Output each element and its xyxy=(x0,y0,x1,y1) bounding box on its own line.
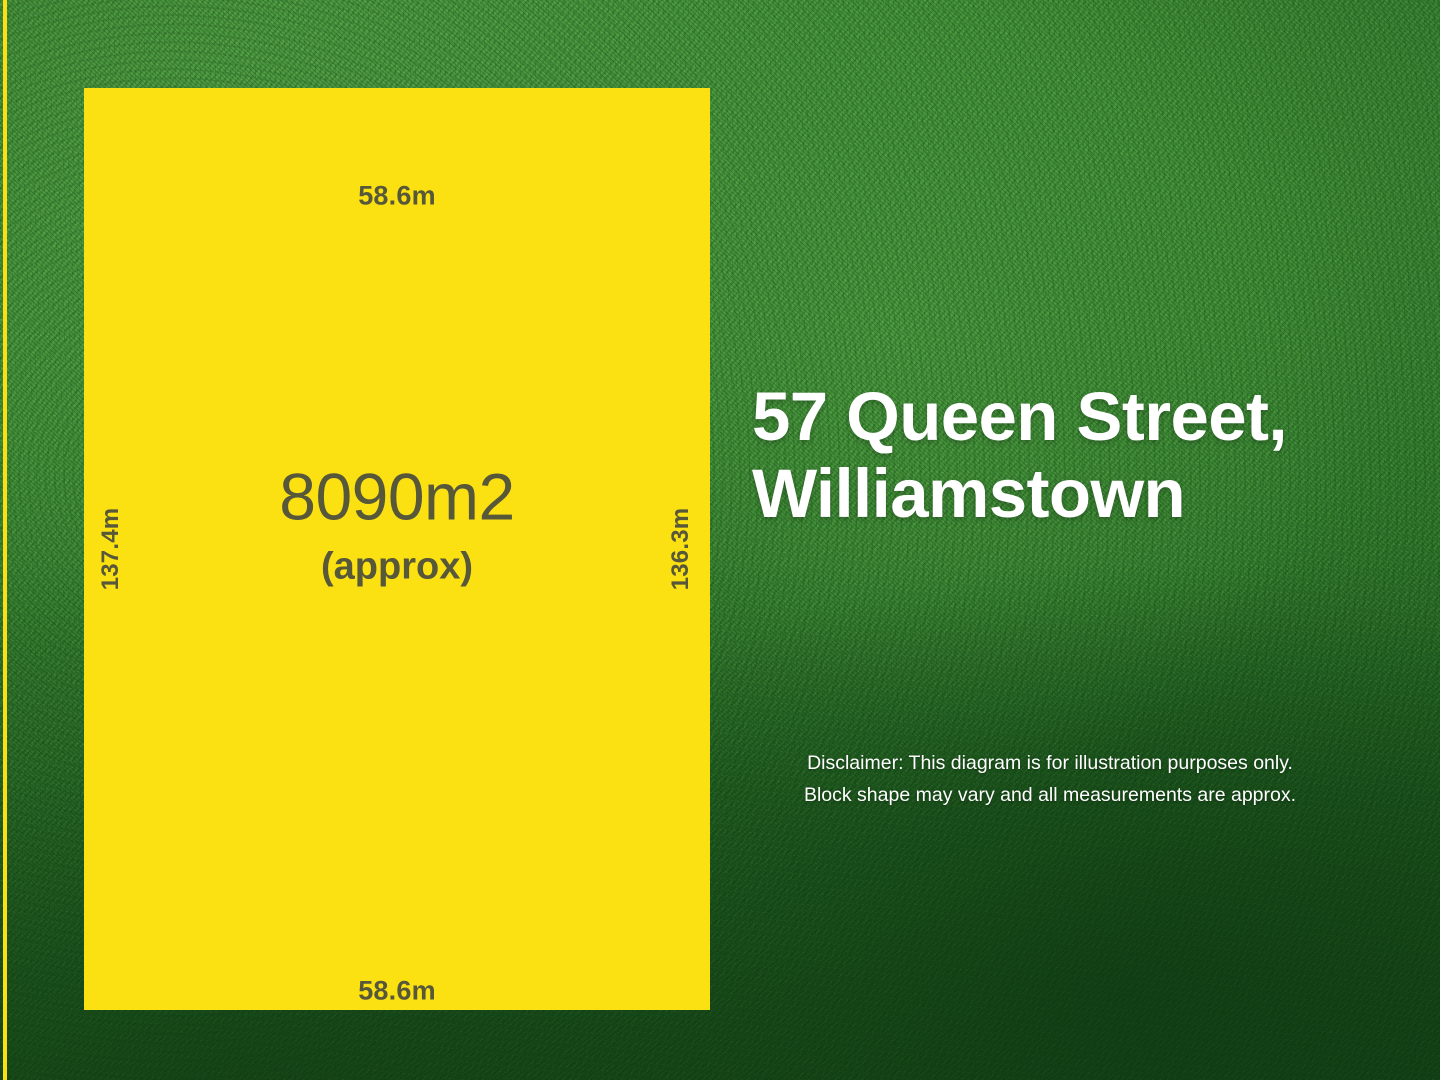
address-line-suburb: Williamstown xyxy=(752,455,1372,532)
disclaimer-text: Disclaimer: This diagram is for illustra… xyxy=(750,748,1350,811)
disclaimer-line-two: Block shape may vary and all measurement… xyxy=(750,780,1350,812)
address-line-street: 57 Queen Street, xyxy=(752,378,1372,455)
property-info-panel: 57 Queen Street, Williamstown Disclaimer… xyxy=(750,0,1440,1080)
block-area-approx-note: (approx) xyxy=(84,547,710,589)
left-edge-accent-strip xyxy=(3,0,7,1080)
disclaimer-line-one: Disclaimer: This diagram is for illustra… xyxy=(750,748,1350,780)
block-area-group: 8090m2 (approx) xyxy=(84,463,710,634)
property-block-diagram: 58.6m 137.4m 136.3m 8090m2 (approx) 58.6… xyxy=(0,0,1440,1080)
block-dimension-top: 58.6m xyxy=(84,181,710,212)
block-dimension-bottom: 58.6m xyxy=(84,976,710,1007)
block-area-value: 8090m2 xyxy=(84,463,710,530)
property-address-title: 57 Queen Street, Williamstown xyxy=(752,378,1372,533)
land-block-shape: 58.6m 137.4m 136.3m 8090m2 (approx) 58.6… xyxy=(84,88,710,1010)
